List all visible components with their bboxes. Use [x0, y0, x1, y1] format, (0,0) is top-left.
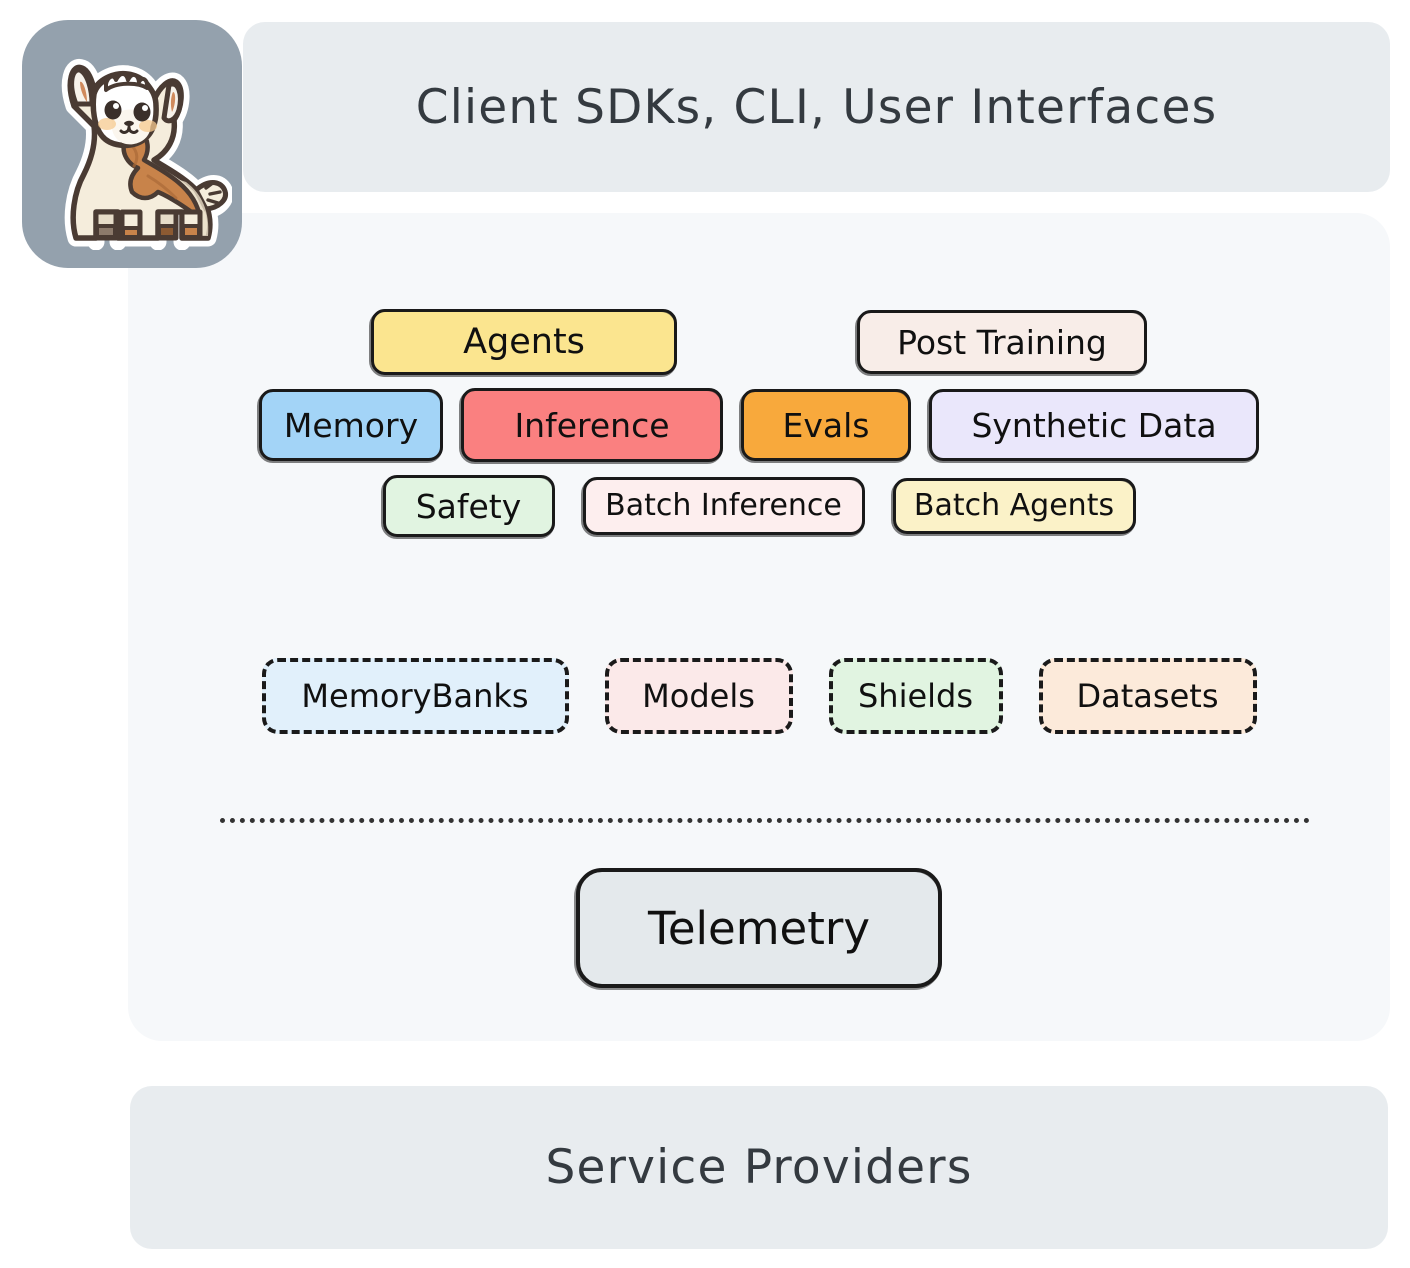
- llama-stack-container: Agents Post Training Memory Inference Ev…: [128, 213, 1390, 1041]
- api-box-agents[interactable]: Agents: [371, 309, 677, 375]
- resource-box-models[interactable]: Models: [605, 658, 793, 734]
- api-row-agents: Agents Post Training: [371, 309, 1147, 375]
- llama-logo-badge: [22, 20, 242, 268]
- service-providers-label: Service Providers: [545, 1140, 972, 1195]
- api-box-evals[interactable]: Evals: [741, 389, 911, 461]
- api-box-post-training-label: Post Training: [897, 326, 1107, 359]
- resource-box-datasets[interactable]: Datasets: [1039, 658, 1257, 734]
- api-box-agents-label: Agents: [463, 325, 585, 360]
- api-box-batch-inference[interactable]: Batch Inference: [583, 477, 865, 535]
- resource-row: MemoryBanks Models Shields Datasets: [128, 658, 1390, 734]
- resource-box-memorybanks-label: MemoryBanks: [301, 680, 528, 712]
- api-row-core: Memory Inference Evals Synthetic Data: [259, 388, 1259, 462]
- section-divider: [220, 818, 1310, 823]
- resource-box-datasets-label: Datasets: [1077, 680, 1219, 712]
- resource-box-shields-label: Shields: [858, 680, 973, 712]
- api-box-batch-inference-label: Batch Inference: [605, 491, 842, 521]
- api-box-evals-label: Evals: [783, 409, 870, 442]
- telemetry-row: Telemetry: [128, 868, 1390, 988]
- resource-box-shields[interactable]: Shields: [829, 658, 1003, 734]
- client-interfaces-banner: Client SDKs, CLI, User Interfaces: [243, 22, 1390, 192]
- api-box-inference-label: Inference: [514, 409, 669, 442]
- telemetry-box[interactable]: Telemetry: [576, 868, 942, 988]
- api-box-batch-agents-label: Batch Agents: [914, 491, 1114, 521]
- telemetry-box-label: Telemetry: [648, 902, 870, 955]
- api-box-synthetic-data-label: Synthetic Data: [971, 409, 1216, 442]
- api-box-post-training[interactable]: Post Training: [857, 310, 1147, 374]
- api-row-batch: Safety Batch Inference Batch Agents: [383, 475, 1136, 537]
- api-box-safety-label: Safety: [416, 490, 522, 523]
- api-box-memory[interactable]: Memory: [259, 389, 443, 461]
- api-box-batch-agents[interactable]: Batch Agents: [893, 478, 1136, 534]
- resource-box-memorybanks[interactable]: MemoryBanks: [262, 658, 569, 734]
- resource-box-models-label: Models: [642, 680, 755, 712]
- api-box-synthetic-data[interactable]: Synthetic Data: [929, 389, 1259, 461]
- api-box-memory-label: Memory: [284, 409, 418, 442]
- api-box-safety[interactable]: Safety: [383, 475, 555, 537]
- diagram-canvas: Client SDKs, CLI, User Interfaces Agents…: [0, 0, 1410, 1268]
- client-interfaces-label: Client SDKs, CLI, User Interfaces: [416, 80, 1218, 135]
- service-providers-banner: Service Providers: [130, 1086, 1388, 1249]
- api-box-inference[interactable]: Inference: [461, 388, 723, 462]
- api-groups: Agents Post Training Memory Inference Ev…: [128, 309, 1390, 537]
